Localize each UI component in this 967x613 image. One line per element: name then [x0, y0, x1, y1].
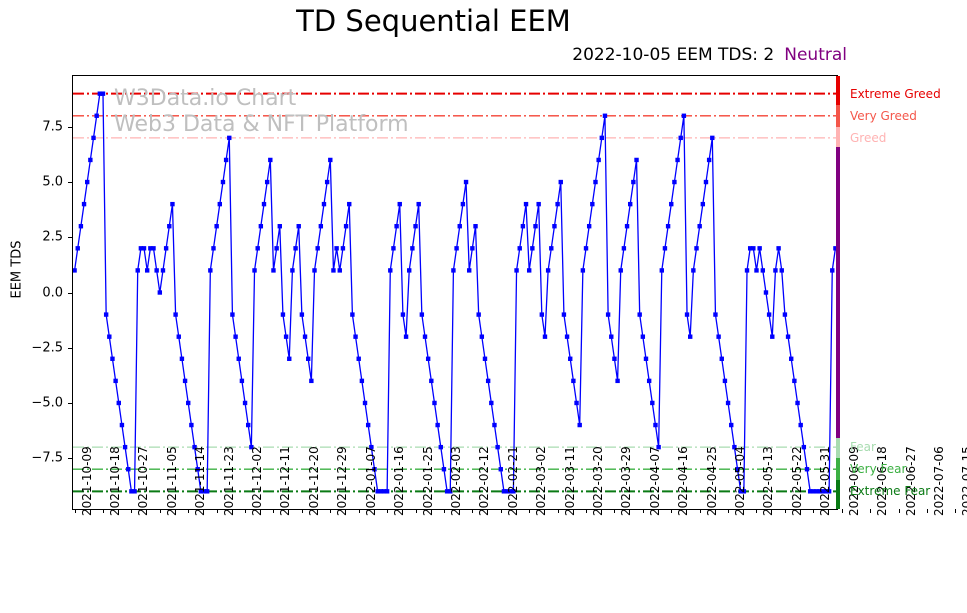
sentiment-scale-segment — [836, 147, 840, 439]
x-axis-tick-label: 2022-02-03 — [449, 446, 463, 516]
x-axis-tick-label: 2021-10-27 — [136, 446, 150, 516]
x-axis-tick-mark — [643, 509, 644, 513]
data-point — [783, 312, 787, 316]
data-point — [186, 401, 190, 405]
data-point — [224, 158, 228, 162]
data-point — [723, 379, 727, 383]
series-line — [75, 94, 836, 492]
data-point — [252, 268, 256, 272]
series-canvas — [73, 76, 837, 509]
x-axis-tick-label: 2021-12-29 — [335, 446, 349, 516]
data-point — [211, 246, 215, 250]
data-point — [644, 357, 648, 361]
x-axis-tick-label: 2022-01-25 — [421, 446, 435, 516]
x-axis-tick-label: 2021-12-02 — [250, 446, 264, 516]
data-point — [533, 224, 537, 228]
data-point — [312, 268, 316, 272]
data-point — [650, 401, 654, 405]
data-point — [391, 246, 395, 250]
data-point — [729, 423, 733, 427]
data-point — [571, 379, 575, 383]
data-point — [751, 246, 755, 250]
data-point — [350, 312, 354, 316]
threshold-label: Extreme Fear — [850, 484, 930, 498]
data-point — [798, 423, 802, 427]
data-point — [237, 357, 241, 361]
data-point — [514, 268, 518, 272]
sentiment-scale-segment — [836, 76, 840, 105]
data-point — [85, 180, 89, 184]
data-point — [110, 357, 114, 361]
x-axis-tick-mark — [899, 509, 900, 513]
data-point — [262, 202, 266, 206]
x-axis-tick-label: 2021-11-23 — [222, 446, 236, 516]
data-point — [492, 423, 496, 427]
data-point — [243, 401, 247, 405]
data-point — [495, 445, 499, 449]
y-axis-tick-mark — [68, 293, 72, 294]
x-axis-tick-label: 2022-07-06 — [932, 446, 946, 516]
x-axis-tick-label: 2022-03-02 — [534, 446, 548, 516]
data-point — [628, 202, 632, 206]
data-point — [458, 224, 462, 228]
data-point — [653, 423, 657, 427]
chart-subtitle: 2022-10-05 EEM TDS: 2Neutral — [572, 45, 847, 65]
data-point — [366, 423, 370, 427]
x-axis-tick-label: 2022-05-31 — [818, 446, 832, 516]
data-point — [555, 202, 559, 206]
data-point — [246, 423, 250, 427]
data-point — [761, 268, 765, 272]
data-point — [344, 224, 348, 228]
data-point — [691, 268, 695, 272]
data-point — [423, 334, 427, 338]
data-point — [177, 334, 181, 338]
data-point — [489, 401, 493, 405]
data-point — [104, 312, 108, 316]
x-axis-tick-mark — [217, 509, 218, 513]
data-point — [101, 91, 105, 95]
data-point — [82, 202, 86, 206]
data-point — [552, 224, 556, 228]
data-point — [795, 401, 799, 405]
data-point — [265, 180, 269, 184]
data-point — [619, 268, 623, 272]
y-axis-tick-mark — [68, 237, 72, 238]
data-point — [467, 268, 471, 272]
data-point — [830, 268, 834, 272]
data-point — [221, 180, 225, 184]
sentiment-scale-segment — [836, 105, 840, 127]
data-point — [559, 180, 563, 184]
data-point — [609, 334, 613, 338]
x-axis-tick-label: 2021-11-14 — [193, 446, 207, 516]
data-point — [470, 246, 474, 250]
x-axis-tick-mark — [75, 509, 76, 513]
data-point — [473, 224, 477, 228]
data-point — [180, 357, 184, 361]
data-point — [278, 224, 282, 228]
data-point — [707, 158, 711, 162]
data-point — [780, 268, 784, 272]
x-axis-tick-label: 2022-03-20 — [591, 446, 605, 516]
threshold-label: Fear — [850, 440, 876, 454]
x-axis-tick-mark — [330, 509, 331, 513]
x-axis-tick-mark — [501, 509, 502, 513]
data-point — [328, 158, 332, 162]
x-axis-tick-mark — [273, 509, 274, 513]
data-point — [170, 202, 174, 206]
data-point — [435, 423, 439, 427]
data-point — [432, 401, 436, 405]
data-point — [521, 224, 525, 228]
data-point — [672, 180, 676, 184]
data-point — [334, 246, 338, 250]
x-axis-tick-mark — [700, 509, 701, 513]
threshold-label: Greed — [850, 131, 886, 145]
data-point — [91, 136, 95, 140]
data-point — [300, 312, 304, 316]
data-point — [786, 334, 790, 338]
data-point — [259, 224, 263, 228]
x-axis-tick-mark — [756, 509, 757, 513]
data-point — [360, 379, 364, 383]
data-point — [663, 246, 667, 250]
data-point — [682, 114, 686, 118]
data-point — [322, 202, 326, 206]
x-axis-tick-mark — [131, 509, 132, 513]
sentiment-scale-segment — [836, 127, 840, 147]
data-point — [697, 224, 701, 228]
data-point — [94, 114, 98, 118]
data-point — [315, 246, 319, 250]
x-axis-tick-label: 2021-11-05 — [165, 446, 179, 516]
x-axis-tick-mark — [785, 509, 786, 513]
x-axis-tick-mark — [416, 509, 417, 513]
data-point — [631, 180, 635, 184]
data-point — [357, 357, 361, 361]
data-point — [126, 467, 130, 471]
data-point — [549, 246, 553, 250]
data-point — [303, 334, 307, 338]
data-point — [483, 357, 487, 361]
x-axis-tick-mark — [586, 509, 587, 513]
data-point — [776, 246, 780, 250]
data-point — [615, 379, 619, 383]
x-axis-tick-label: 2022-06-09 — [847, 446, 861, 516]
data-point — [164, 246, 168, 250]
data-point — [499, 467, 503, 471]
data-point — [603, 114, 607, 118]
data-point — [461, 202, 465, 206]
page-title: TD Sequential EEM — [0, 4, 867, 38]
y-axis-tick-label: 0.0 — [42, 285, 63, 300]
data-point — [789, 357, 793, 361]
x-axis-tick-mark — [245, 509, 246, 513]
data-point — [454, 246, 458, 250]
x-axis-tick-mark — [387, 509, 388, 513]
data-point — [524, 202, 528, 206]
data-point — [413, 224, 417, 228]
x-axis-tick-mark — [103, 509, 104, 513]
data-point — [536, 202, 540, 206]
x-axis-tick-mark — [188, 509, 189, 513]
data-point — [230, 312, 234, 316]
threshold-label: Extreme Greed — [850, 87, 941, 101]
data-point — [107, 334, 111, 338]
x-axis-tick-label: 2021-10-09 — [80, 446, 94, 516]
data-point — [685, 312, 689, 316]
data-point — [306, 357, 310, 361]
data-point — [410, 246, 414, 250]
data-point — [240, 379, 244, 383]
data-point — [480, 334, 484, 338]
data-point — [770, 334, 774, 338]
data-point — [293, 246, 297, 250]
data-point — [637, 312, 641, 316]
data-point — [426, 357, 430, 361]
data-point — [189, 423, 193, 427]
data-point — [565, 334, 569, 338]
sentiment-scale-segment — [836, 480, 840, 509]
x-axis-tick-label: 2022-05-04 — [733, 446, 747, 516]
data-point — [136, 268, 140, 272]
data-point — [341, 246, 345, 250]
sentiment-scale-segment — [836, 438, 840, 458]
x-axis-tick-label: 2022-02-21 — [506, 446, 520, 516]
data-point — [271, 268, 275, 272]
data-point — [79, 224, 83, 228]
x-axis-tick-label: 2022-03-11 — [563, 446, 577, 516]
data-point — [73, 268, 77, 272]
data-point — [268, 158, 272, 162]
data-point — [284, 334, 288, 338]
data-point — [183, 379, 187, 383]
data-point — [578, 423, 582, 427]
data-point — [596, 158, 600, 162]
data-point — [666, 224, 670, 228]
data-point — [347, 202, 351, 206]
x-axis-tick-mark — [728, 509, 729, 513]
x-axis-tick-mark — [160, 509, 161, 513]
data-point — [353, 334, 357, 338]
data-point — [710, 136, 714, 140]
y-axis-tick-mark — [68, 403, 72, 404]
x-axis-tick-label: 2021-12-20 — [307, 446, 321, 516]
data-point — [669, 202, 673, 206]
x-axis-tick-mark — [927, 509, 928, 513]
data-point — [764, 290, 768, 294]
data-point — [407, 268, 411, 272]
x-axis-tick-label: 2022-01-16 — [392, 446, 406, 516]
data-point — [606, 312, 610, 316]
data-point — [151, 246, 155, 250]
data-point — [442, 467, 446, 471]
data-point — [634, 158, 638, 162]
data-point — [647, 379, 651, 383]
data-point — [338, 268, 342, 272]
y-axis-tick-mark — [68, 182, 72, 183]
data-point — [331, 268, 335, 272]
x-axis-tick-label: 2021-12-11 — [278, 446, 292, 516]
data-point — [527, 268, 531, 272]
y-axis-tick-mark — [68, 127, 72, 128]
data-point — [429, 379, 433, 383]
data-point — [562, 312, 566, 316]
x-axis-tick-label: 2022-04-07 — [648, 446, 662, 516]
data-point — [574, 401, 578, 405]
x-axis-tick-label: 2022-06-27 — [904, 446, 918, 516]
data-point — [716, 334, 720, 338]
data-point — [439, 445, 443, 449]
x-axis-tick-mark — [529, 509, 530, 513]
data-point — [218, 202, 222, 206]
data-point — [145, 268, 149, 272]
data-point — [745, 268, 749, 272]
data-point — [720, 357, 724, 361]
sentiment-scale-segment — [836, 458, 840, 480]
data-point — [158, 290, 162, 294]
x-axis-tick-mark — [842, 509, 843, 513]
threshold-label: Very Greed — [850, 109, 917, 123]
data-point — [281, 312, 285, 316]
x-axis-tick-label: 2022-05-13 — [761, 446, 775, 516]
data-point — [675, 158, 679, 162]
data-point — [173, 312, 177, 316]
data-point — [401, 312, 405, 316]
data-point — [117, 401, 121, 405]
x-axis-tick-label: 2022-04-25 — [705, 446, 719, 516]
data-point — [704, 180, 708, 184]
data-point — [486, 379, 490, 383]
sentiment-label: Neutral — [784, 45, 847, 65]
x-axis-tick-label: 2022-01-07 — [364, 446, 378, 516]
data-point — [297, 224, 301, 228]
x-axis-tick-label: 2021-10-18 — [108, 446, 122, 516]
x-axis-tick-label: 2022-02-12 — [477, 446, 491, 516]
data-point — [325, 180, 329, 184]
data-point — [587, 224, 591, 228]
data-point — [757, 246, 761, 250]
x-axis-tick-mark — [614, 509, 615, 513]
data-point — [416, 202, 420, 206]
x-axis-tick-mark — [870, 509, 871, 513]
x-axis-tick-label: 2022-05-22 — [790, 446, 804, 516]
x-axis-tick-mark — [955, 509, 956, 513]
data-point — [420, 312, 424, 316]
data-point — [726, 401, 730, 405]
x-axis-tick-label: 2022-07-15 — [960, 446, 967, 516]
data-point — [568, 357, 572, 361]
data-point — [113, 379, 117, 383]
data-point — [625, 224, 629, 228]
data-point — [773, 268, 777, 272]
data-point — [388, 268, 392, 272]
subtitle-reading: 2022-10-05 EEM TDS: 2 — [572, 45, 774, 65]
y-axis-label: EEM TDS — [10, 220, 25, 320]
x-axis-tick-mark — [444, 509, 445, 513]
data-point — [123, 445, 127, 449]
data-point — [255, 246, 259, 250]
x-axis-tick-mark — [558, 509, 559, 513]
y-axis-tick-label: 2.5 — [42, 230, 63, 245]
data-point — [161, 268, 165, 272]
data-point — [451, 268, 455, 272]
td-sequential-chart: TD Sequential EEM 2022-10-05 EEM TDS: 2N… — [0, 0, 967, 613]
data-point — [76, 246, 80, 250]
x-axis-tick-mark — [472, 509, 473, 513]
data-point — [581, 268, 585, 272]
data-point — [792, 379, 796, 383]
y-axis-tick-mark — [68, 348, 72, 349]
data-point — [290, 268, 294, 272]
data-point — [540, 312, 544, 316]
plot-area — [72, 75, 838, 510]
data-point — [679, 136, 683, 140]
y-axis-tick-label: −2.5 — [31, 340, 63, 355]
data-point — [612, 357, 616, 361]
data-point — [167, 224, 171, 228]
x-axis-tick-label: 2022-04-16 — [676, 446, 690, 516]
data-point — [641, 334, 645, 338]
data-point — [398, 202, 402, 206]
data-point — [660, 268, 664, 272]
data-point — [208, 268, 212, 272]
threshold-label: Very Fear — [850, 462, 906, 476]
data-point — [385, 489, 389, 493]
x-axis-tick-mark — [302, 509, 303, 513]
data-point — [600, 136, 604, 140]
data-point — [767, 312, 771, 316]
y-axis-tick-label: 7.5 — [42, 119, 63, 134]
data-point — [530, 246, 534, 250]
data-point — [120, 423, 124, 427]
data-point — [622, 246, 626, 250]
x-axis-tick-mark — [359, 509, 360, 513]
data-point — [701, 202, 705, 206]
x-axis-tick-label: 2022-03-29 — [619, 446, 633, 516]
data-point — [584, 246, 588, 250]
y-axis-tick-label: −7.5 — [31, 451, 63, 466]
y-axis-tick-label: −5.0 — [31, 395, 63, 410]
y-axis-tick-mark — [68, 458, 72, 459]
data-point — [694, 246, 698, 250]
data-point — [394, 224, 398, 228]
data-point — [404, 334, 408, 338]
data-point — [287, 357, 291, 361]
data-point — [233, 334, 237, 338]
data-point — [805, 467, 809, 471]
y-axis-tick-label: 5.0 — [42, 175, 63, 190]
data-point — [154, 268, 158, 272]
data-point — [274, 246, 278, 250]
data-point — [142, 246, 146, 250]
data-point — [593, 180, 597, 184]
data-point — [214, 224, 218, 228]
data-point — [363, 401, 367, 405]
data-point — [543, 334, 547, 338]
data-point — [319, 224, 323, 228]
data-point — [754, 268, 758, 272]
data-point — [464, 180, 468, 184]
data-point — [590, 202, 594, 206]
x-axis-tick-mark — [813, 509, 814, 513]
data-point — [546, 268, 550, 272]
data-point — [227, 136, 231, 140]
x-axis-tick-mark — [671, 509, 672, 513]
data-point — [518, 246, 522, 250]
data-point — [88, 158, 92, 162]
